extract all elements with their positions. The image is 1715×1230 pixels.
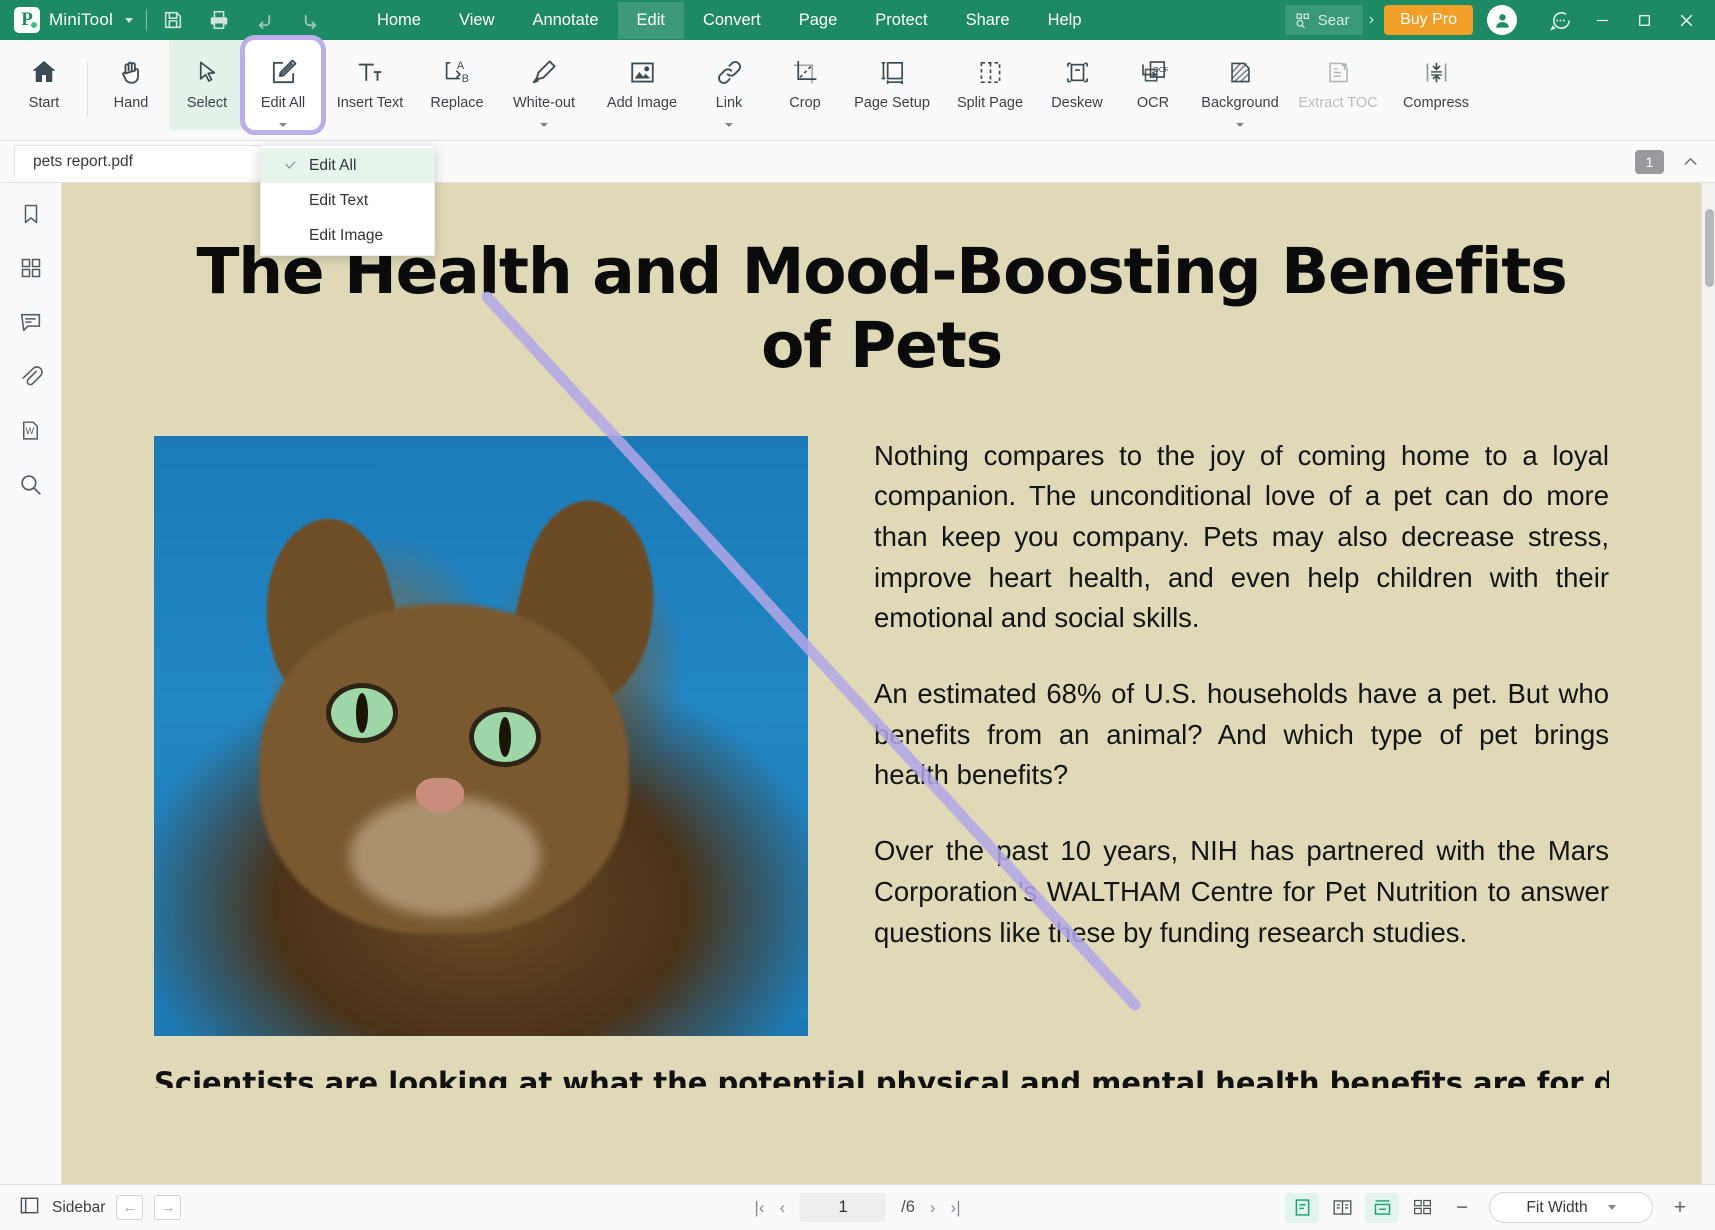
cat-eye-left bbox=[331, 688, 393, 738]
menu-share[interactable]: Share bbox=[947, 2, 1029, 39]
ocr-icon: OCR bbox=[1138, 51, 1168, 93]
main-menu: Home View Annotate Edit Convert Page Pro… bbox=[358, 2, 1101, 39]
save-icon[interactable] bbox=[160, 7, 186, 33]
insert-text-icon bbox=[355, 51, 385, 93]
zoom-level-select[interactable]: Fit Width bbox=[1489, 1192, 1653, 1223]
edit-all-dropdown-menu[interactable]: Edit All Edit Text Edit Image bbox=[260, 145, 435, 256]
tool-start[interactable]: Start bbox=[6, 40, 82, 130]
status-right: − Fit Width + bbox=[1285, 1192, 1715, 1223]
previous-page-button[interactable]: ‹ bbox=[779, 1198, 785, 1218]
tool-label: Background bbox=[1201, 95, 1278, 111]
cat-muzzle bbox=[350, 796, 540, 916]
tool-label: Crop bbox=[789, 95, 820, 111]
single-page-view-icon[interactable] bbox=[1285, 1193, 1319, 1223]
word-stamp-icon[interactable]: W bbox=[12, 413, 50, 447]
search-icon bbox=[1295, 12, 1312, 29]
user-icon bbox=[1493, 11, 1512, 30]
menu-convert[interactable]: Convert bbox=[684, 2, 780, 39]
sidebar-label[interactable]: Sidebar bbox=[52, 1199, 105, 1217]
whiteout-icon bbox=[529, 51, 559, 93]
tool-label: Start bbox=[29, 95, 60, 111]
thumbnails-icon[interactable] bbox=[12, 251, 50, 285]
redo-icon[interactable] bbox=[298, 7, 324, 33]
replace-icon: A B bbox=[443, 51, 472, 93]
undo-icon[interactable] bbox=[252, 7, 278, 33]
white-out-chevron-down-icon[interactable] bbox=[540, 123, 548, 127]
tool-label: Split Page bbox=[957, 95, 1023, 111]
tool-label: Deskew bbox=[1051, 95, 1103, 111]
tool-link[interactable]: Link bbox=[691, 40, 767, 130]
search-expand-chevron-icon[interactable]: › bbox=[1369, 11, 1374, 29]
extract-toc-icon bbox=[1324, 51, 1353, 93]
zoom-level-label: Fit Width bbox=[1526, 1199, 1587, 1217]
cat-nose bbox=[416, 778, 464, 812]
workspace: W The Health and Mood-Boosting Benefits … bbox=[0, 183, 1715, 1184]
paragraph-4-clipped[interactable]: Scientists are looking at what the poten… bbox=[154, 1066, 1609, 1088]
link-icon bbox=[715, 51, 744, 93]
continuous-scroll-icon[interactable] bbox=[1365, 1193, 1399, 1223]
status-bar: Sidebar ← → |‹ ‹ /6 › ›| bbox=[0, 1184, 1715, 1230]
text-column: Nothing compares to the joy of coming ho… bbox=[874, 436, 1609, 1036]
two-page-view-icon[interactable] bbox=[1325, 1193, 1359, 1223]
document-tab-label: pets report.pdf bbox=[33, 153, 133, 171]
status-left: Sidebar ← → bbox=[0, 1194, 181, 1222]
deskew-icon bbox=[1063, 51, 1092, 93]
tool-label: Link bbox=[716, 95, 743, 111]
quick-access-toolbar bbox=[160, 7, 324, 33]
next-page-button[interactable]: › bbox=[930, 1198, 936, 1218]
edit-all-icon bbox=[269, 51, 298, 93]
menu-edit[interactable]: Edit bbox=[618, 2, 684, 39]
brand-name: MiniTool bbox=[49, 10, 113, 30]
brand-area[interactable]: P MiniTool bbox=[0, 7, 133, 33]
cat-eye-right bbox=[474, 712, 536, 762]
tool-label: White-out bbox=[513, 95, 575, 111]
link-chevron-down-icon[interactable] bbox=[725, 123, 733, 127]
image-column bbox=[154, 436, 808, 1036]
pdf-page[interactable]: The Health and Mood-Boosting Benefits of… bbox=[62, 183, 1701, 1184]
tool-background[interactable]: Background bbox=[1191, 40, 1289, 130]
paragraph-1[interactable]: Nothing compares to the joy of coming ho… bbox=[874, 436, 1609, 639]
menu-help[interactable]: Help bbox=[1029, 2, 1101, 39]
comment-icon[interactable] bbox=[12, 305, 50, 339]
tool-extract-toc: Extract TOC bbox=[1289, 40, 1387, 130]
document-viewer[interactable]: The Health and Mood-Boosting Benefits of… bbox=[62, 183, 1715, 1184]
cat-photo[interactable] bbox=[154, 436, 808, 1036]
search-input[interactable]: Sear bbox=[1285, 5, 1363, 35]
tool-edit-all[interactable]: Edit All bbox=[245, 40, 321, 130]
tool-label: Edit All bbox=[261, 95, 305, 111]
tool-page-setup[interactable]: Page Setup bbox=[843, 40, 941, 130]
paragraph-3[interactable]: Over the past 10 years, NIH has partnere… bbox=[874, 831, 1609, 953]
last-page-button[interactable]: ›| bbox=[951, 1198, 961, 1218]
tool-compress[interactable]: Compress bbox=[1387, 40, 1485, 130]
tool-white-out[interactable]: White-out bbox=[495, 40, 593, 130]
maximize-button[interactable] bbox=[1623, 0, 1665, 40]
document-tab[interactable]: pets report.pdf bbox=[14, 145, 262, 178]
page-number-input[interactable] bbox=[800, 1193, 886, 1222]
menu-item-edit-text[interactable]: Edit Text bbox=[261, 183, 434, 218]
chevron-down-icon bbox=[1608, 1205, 1616, 1210]
background-chevron-down-icon[interactable] bbox=[1236, 123, 1244, 127]
print-icon[interactable] bbox=[206, 7, 232, 33]
cat-pupil-right bbox=[499, 717, 511, 757]
document-tab-strip: pets report.pdf 1 bbox=[0, 141, 1715, 183]
menu-item-edit-all[interactable]: Edit All bbox=[261, 148, 434, 183]
crop-icon bbox=[791, 51, 820, 93]
close-button[interactable] bbox=[1665, 0, 1707, 40]
menu-home[interactable]: Home bbox=[358, 2, 440, 39]
scrollbar-thumb[interactable] bbox=[1705, 209, 1714, 287]
bookmark-icon[interactable] bbox=[12, 197, 50, 231]
page-title: The Health and Mood-Boosting Benefits of… bbox=[154, 235, 1609, 384]
menu-item-edit-image[interactable]: Edit Image bbox=[261, 218, 434, 253]
tool-label: Compress bbox=[1403, 95, 1469, 111]
title-bar: P MiniTool bbox=[0, 0, 1715, 40]
chevron-up-icon[interactable] bbox=[1680, 151, 1701, 172]
attachment-icon[interactable] bbox=[12, 359, 50, 393]
logo-dot bbox=[31, 22, 37, 28]
total-pages-label: /6 bbox=[901, 1198, 915, 1217]
tool-deskew[interactable]: Deskew bbox=[1039, 40, 1115, 130]
first-page-button[interactable]: |‹ bbox=[754, 1198, 764, 1218]
nav-back-button[interactable]: ← bbox=[116, 1195, 143, 1220]
cat-pupil-left bbox=[356, 693, 368, 733]
feedback-chat-icon[interactable] bbox=[1539, 0, 1581, 40]
divider bbox=[146, 9, 147, 31]
tool-label: Insert Text bbox=[337, 95, 404, 111]
toolbar-divider bbox=[87, 62, 88, 116]
tool-hand[interactable]: Hand bbox=[93, 40, 169, 130]
tool-label: Page Setup bbox=[854, 95, 930, 111]
menu-item-label: Edit Image bbox=[309, 227, 383, 245]
cursor-icon bbox=[194, 51, 221, 93]
tool-label: Replace bbox=[430, 95, 483, 111]
page-navigation: |‹ ‹ /6 › ›| bbox=[754, 1193, 960, 1222]
menu-page[interactable]: Page bbox=[780, 2, 857, 39]
check-icon bbox=[271, 158, 309, 173]
tool-split-page[interactable]: Split Page bbox=[941, 40, 1039, 130]
svg-text:B: B bbox=[461, 73, 468, 85]
avatar[interactable] bbox=[1487, 5, 1517, 35]
brand-chevron-down-icon[interactable] bbox=[125, 18, 133, 23]
paragraph-2[interactable]: An estimated 68% of U.S. households have… bbox=[874, 674, 1609, 796]
page-setup-icon bbox=[878, 51, 907, 93]
zoom-in-button[interactable]: + bbox=[1663, 1193, 1697, 1223]
search-icon[interactable] bbox=[12, 467, 50, 501]
grid-view-icon[interactable] bbox=[1405, 1193, 1439, 1223]
buy-pro-button[interactable]: Buy Pro bbox=[1384, 5, 1473, 35]
tool-ocr[interactable]: OCR OCR bbox=[1115, 40, 1191, 130]
tool-label: Select bbox=[187, 95, 227, 111]
zoom-out-button[interactable]: − bbox=[1445, 1193, 1479, 1223]
tool-crop[interactable]: Crop bbox=[767, 40, 843, 130]
sidebar-toggle-icon[interactable] bbox=[18, 1194, 41, 1222]
svg-text:A: A bbox=[456, 59, 464, 71]
nav-forward-button[interactable]: → bbox=[154, 1195, 181, 1220]
tool-insert-text[interactable]: Insert Text bbox=[321, 40, 419, 130]
page-columns: Nothing compares to the joy of coming ho… bbox=[154, 436, 1609, 1036]
minitool-logo-icon: P bbox=[14, 7, 40, 33]
search-text: Sear bbox=[1318, 12, 1350, 29]
tool-label: Hand bbox=[114, 95, 149, 111]
menu-item-label: Edit Text bbox=[309, 192, 368, 210]
svg-text:W: W bbox=[26, 426, 35, 436]
add-image-icon bbox=[628, 51, 657, 93]
tool-select[interactable]: Select bbox=[169, 40, 245, 130]
tool-label: Extract TOC bbox=[1298, 95, 1377, 111]
background-icon bbox=[1226, 51, 1255, 93]
ribbon-toolbar: Start Hand Select bbox=[0, 40, 1715, 141]
tool-replace[interactable]: A B Replace bbox=[419, 40, 495, 130]
edit-all-chevron-down-icon[interactable] bbox=[279, 123, 287, 127]
menu-annotate[interactable]: Annotate bbox=[513, 2, 617, 39]
minimize-button[interactable] bbox=[1581, 0, 1623, 40]
application-window: P MiniTool bbox=[0, 0, 1715, 1230]
compress-icon bbox=[1422, 51, 1451, 93]
hand-icon bbox=[117, 51, 146, 93]
menu-protect[interactable]: Protect bbox=[856, 2, 946, 39]
tool-label: OCR bbox=[1137, 95, 1169, 111]
menu-view[interactable]: View bbox=[440, 2, 513, 39]
tabstrip-right: 1 bbox=[1635, 150, 1715, 174]
menu-item-label: Edit All bbox=[309, 157, 356, 175]
titlebar-right-cluster: Sear › Buy Pro bbox=[1285, 0, 1715, 40]
left-navigation-rail: W bbox=[0, 183, 62, 1184]
page-count-badge[interactable]: 1 bbox=[1635, 150, 1664, 174]
tool-label: Add Image bbox=[607, 95, 677, 111]
split-page-icon bbox=[976, 51, 1005, 93]
tool-add-image[interactable]: Add Image bbox=[593, 40, 691, 130]
home-icon bbox=[29, 51, 59, 93]
vertical-scrollbar[interactable] bbox=[1701, 183, 1715, 1184]
